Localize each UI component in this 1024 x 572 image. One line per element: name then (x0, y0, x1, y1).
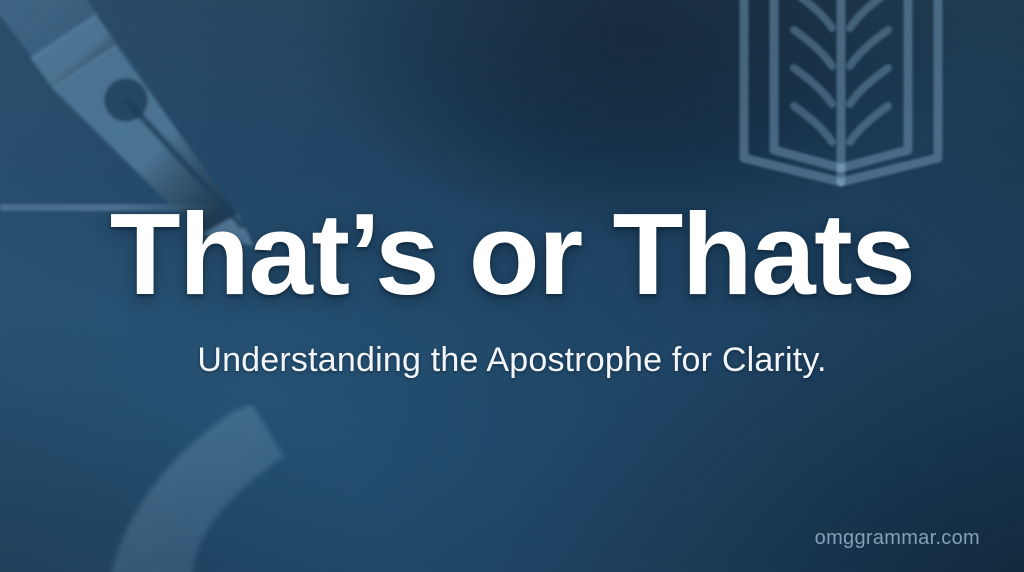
slide-canvas: That’s or Thats Understanding the Apostr… (0, 0, 1024, 572)
page-title: That’s or Thats (0, 196, 1024, 312)
hero-content: That’s or Thats Understanding the Apostr… (0, 0, 1024, 572)
page-subtitle: Understanding the Apostrophe for Clarity… (0, 340, 1024, 381)
site-watermark: omggrammar.com (815, 527, 980, 550)
